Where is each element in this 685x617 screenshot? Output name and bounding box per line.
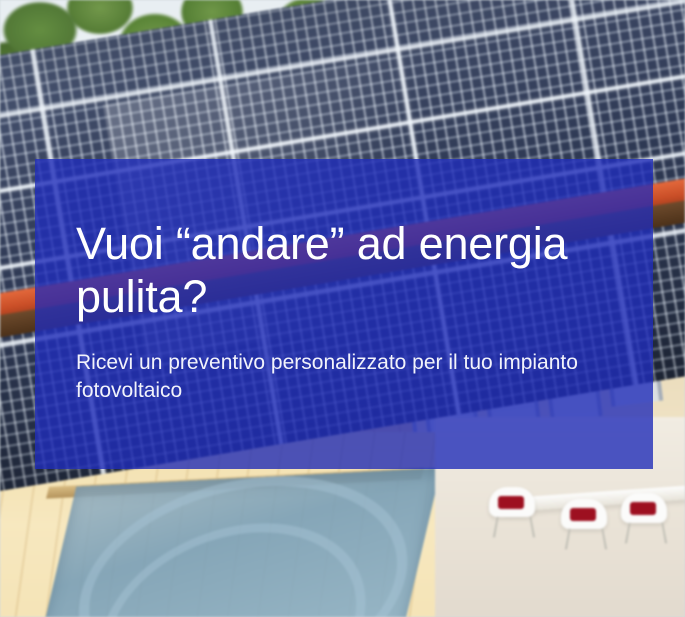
patio-chair	[561, 499, 607, 543]
patio-chair	[489, 487, 535, 531]
hero-title: Vuoi “andare” ad energia pulita?	[76, 217, 616, 323]
swimming-pool	[39, 468, 441, 617]
hero-copy: Vuoi “andare” ad energia pulita? Ricevi …	[35, 159, 653, 469]
chair-legs	[565, 529, 607, 550]
chair-legs	[625, 523, 667, 544]
hero-banner: Vuoi “andare” ad energia pulita? Ricevi …	[0, 0, 685, 617]
chair-cushion	[630, 502, 656, 515]
chair-legs	[493, 517, 535, 538]
hero-overlay-panel: Vuoi “andare” ad energia pulita? Ricevi …	[35, 159, 653, 469]
patio-chair	[621, 493, 667, 537]
hero-subtitle: Ricevi un preventivo personalizzato per …	[76, 349, 596, 405]
chair-cushion	[570, 508, 596, 521]
chair-cushion	[498, 496, 524, 509]
